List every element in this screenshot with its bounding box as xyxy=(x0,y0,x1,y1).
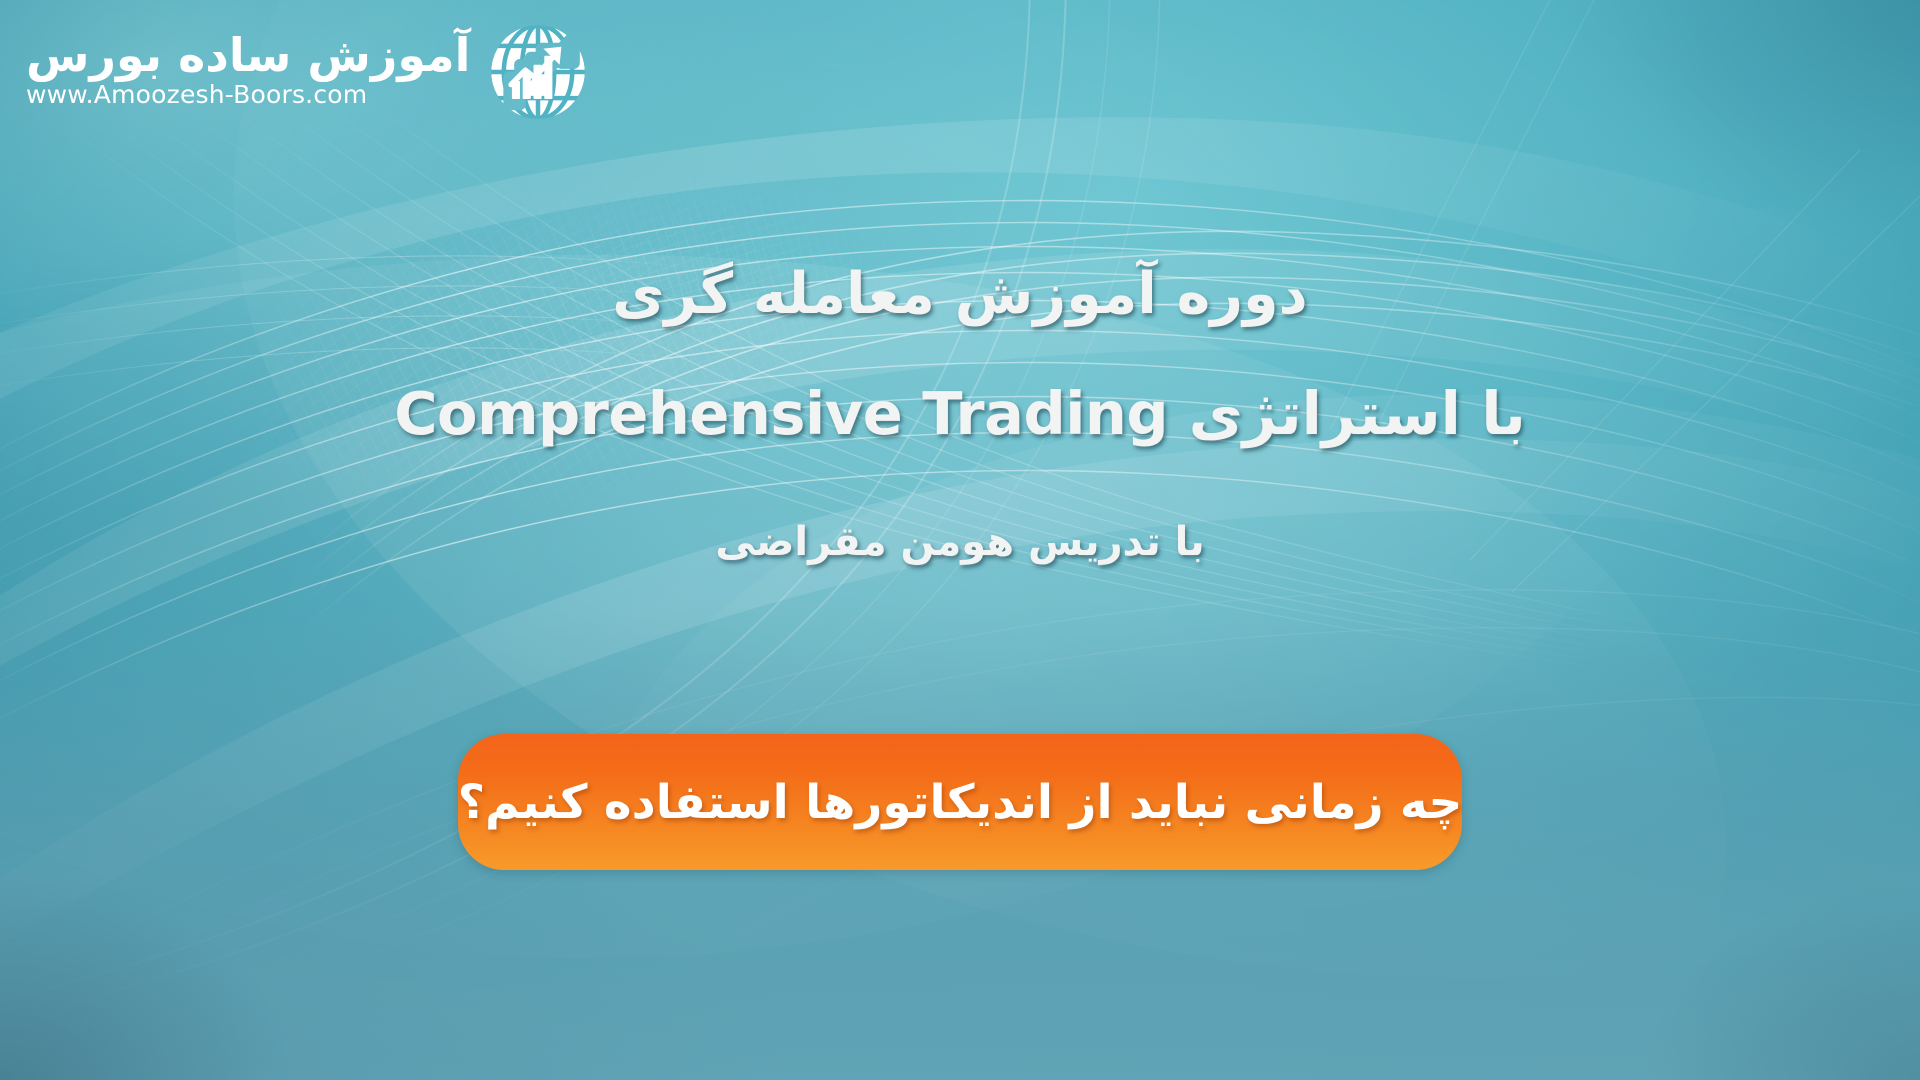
brand-name-fa: آموزش ساده بورس xyxy=(26,32,470,79)
brand-website-url: www.Amoozesh-Boors.com xyxy=(26,81,367,110)
headline-strategy-name: Comprehensive Trading xyxy=(394,379,1168,448)
globe-bar-chart-icon xyxy=(484,18,592,126)
brand-wordmark: آموزش ساده بورس www.Amoozesh-Boors.com xyxy=(26,32,470,112)
promo-banner: آموزش ساده بورس www.Amoozesh-Boors.com د… xyxy=(0,0,1920,1080)
cta-container: چه زمانی نباید از اندیکاتورها استفاده کن… xyxy=(0,734,1920,870)
headline-strategy: با استراتژی Comprehensive Trading xyxy=(0,380,1920,448)
headline-instructor: با تدریس هومن مقراضی xyxy=(0,519,1920,565)
headline-strategy-prefix: با استراتژی xyxy=(1189,379,1526,448)
brand-logo[interactable]: آموزش ساده بورس www.Amoozesh-Boors.com xyxy=(26,18,592,126)
cta-question-button[interactable]: چه زمانی نباید از اندیکاتورها استفاده کن… xyxy=(458,734,1462,870)
headline-course-title: دوره آموزش معامله گری xyxy=(0,262,1920,328)
headline-block: دوره آموزش معامله گری با استراتژی Compre… xyxy=(0,262,1920,565)
